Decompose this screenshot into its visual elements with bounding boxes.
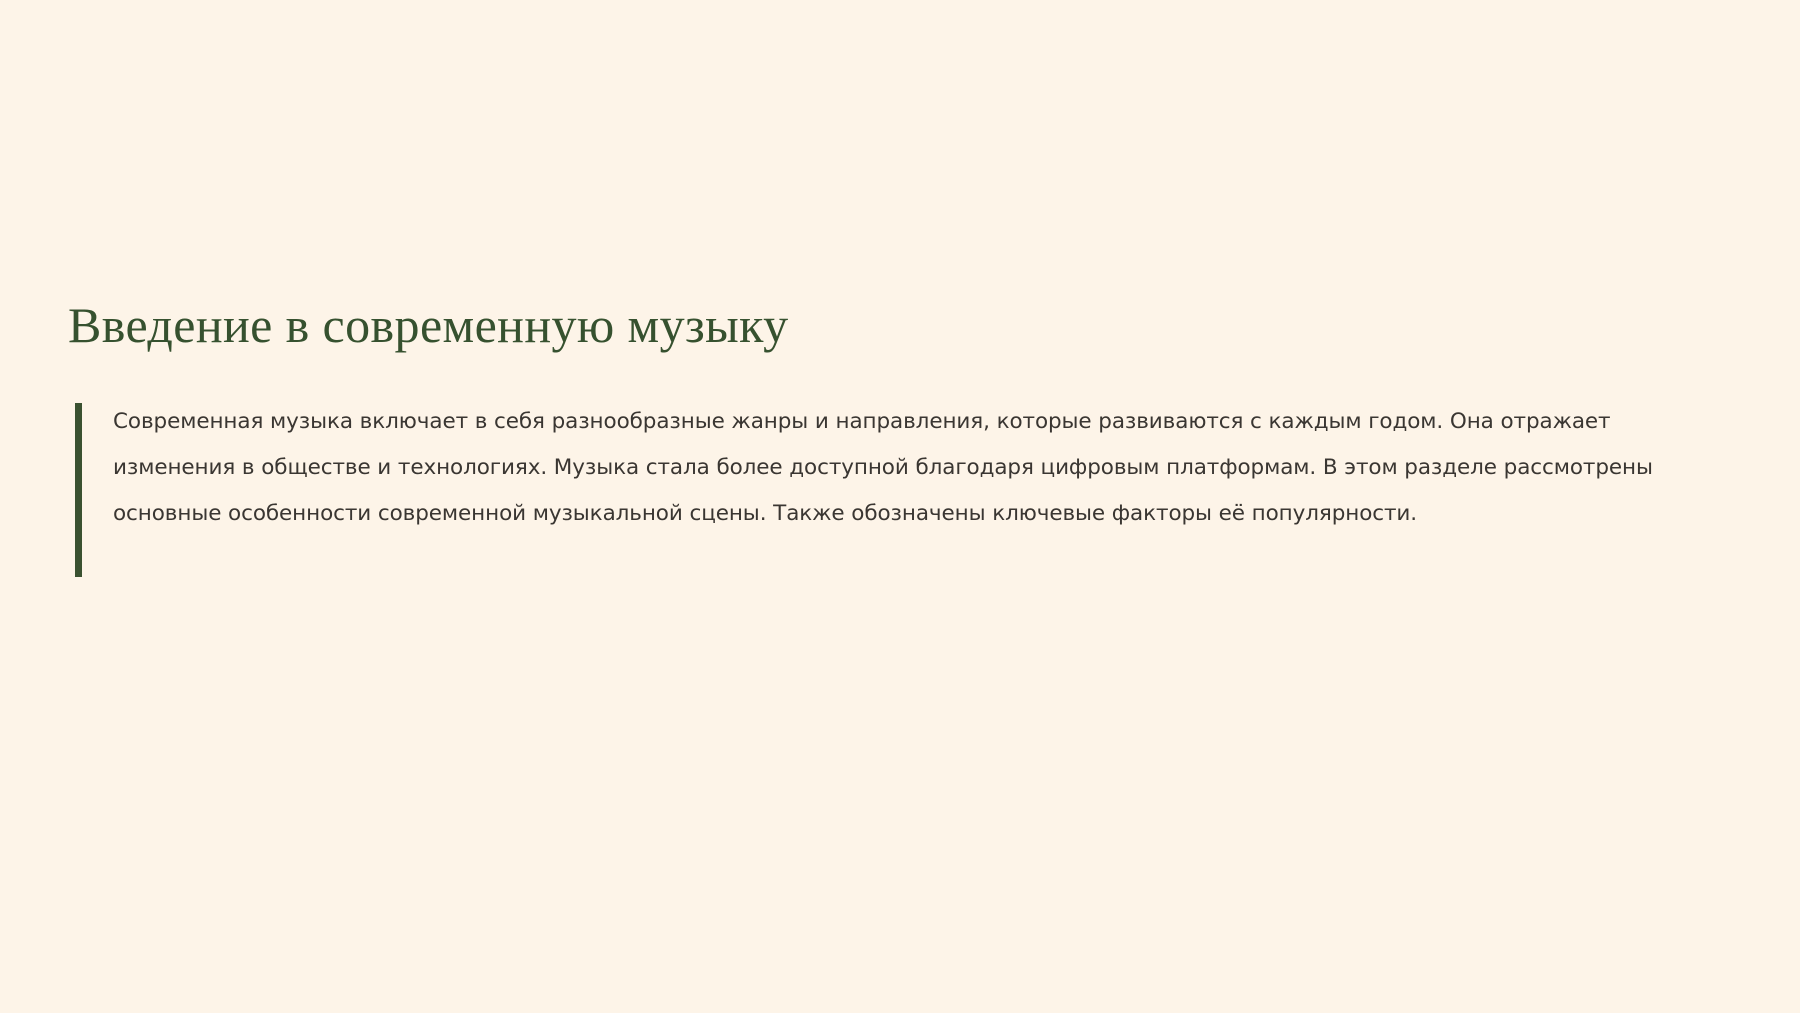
accent-bar [75, 403, 82, 577]
page-title: Введение в современную музыку [68, 296, 1728, 355]
content-section: Введение в современную музыку Современна… [68, 296, 1728, 537]
slide-canvas: Введение в современную музыку Современна… [0, 0, 1800, 1013]
body-paragraph: Современная музыка включает в себя разно… [113, 399, 1723, 537]
quote-block: Современная музыка включает в себя разно… [68, 399, 1728, 537]
